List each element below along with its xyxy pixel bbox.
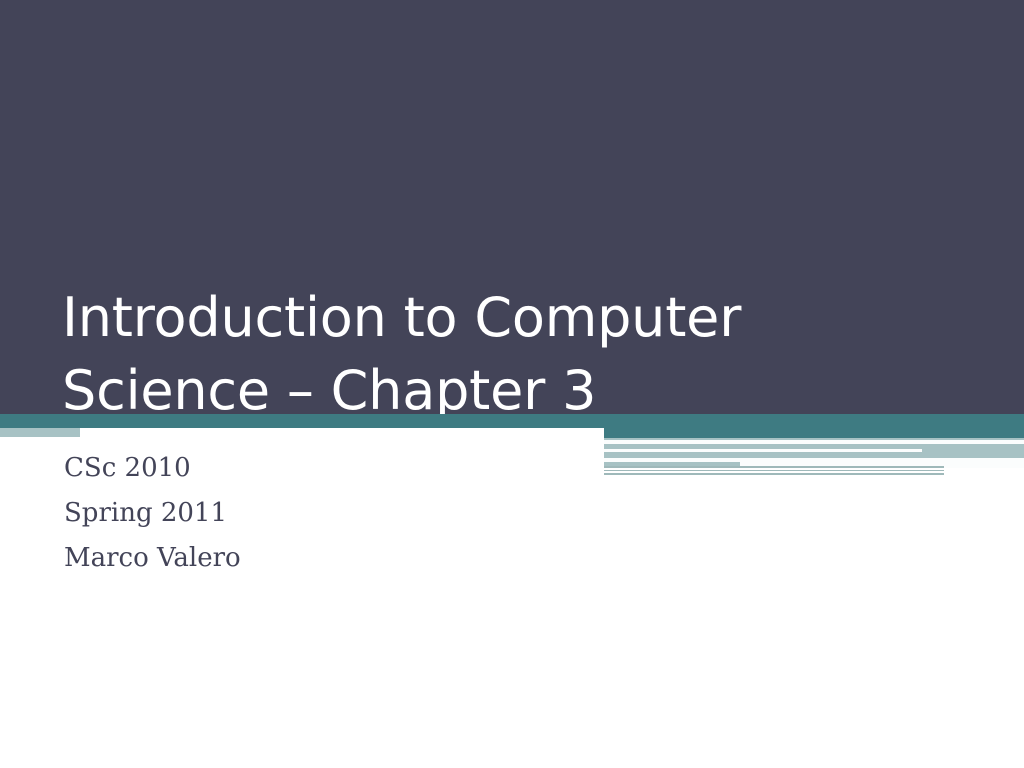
presentation-slide: Introduction to Computer Science – Chapt… <box>0 0 1024 768</box>
slide-title-line-1: Introduction to Computer <box>62 281 842 354</box>
slide-title: Introduction to Computer Science – Chapt… <box>62 281 842 427</box>
white-stripe-1 <box>604 440 1024 444</box>
subtitle-course-code: CSc 2010 <box>64 446 584 491</box>
slide-subtitle: CSc 2010 Spring 2011 Marco Valero <box>64 446 584 581</box>
hairline-rule-3 <box>604 473 944 475</box>
subtitle-presenter: Marco Valero <box>64 536 584 581</box>
teal-band-right-block <box>604 414 1024 438</box>
hairline-rule-1 <box>604 466 944 468</box>
subtitle-term: Spring 2011 <box>64 491 584 536</box>
sage-band-left <box>0 428 80 437</box>
hairline-rule-2 <box>604 470 944 471</box>
white-stripe-2 <box>604 449 922 452</box>
